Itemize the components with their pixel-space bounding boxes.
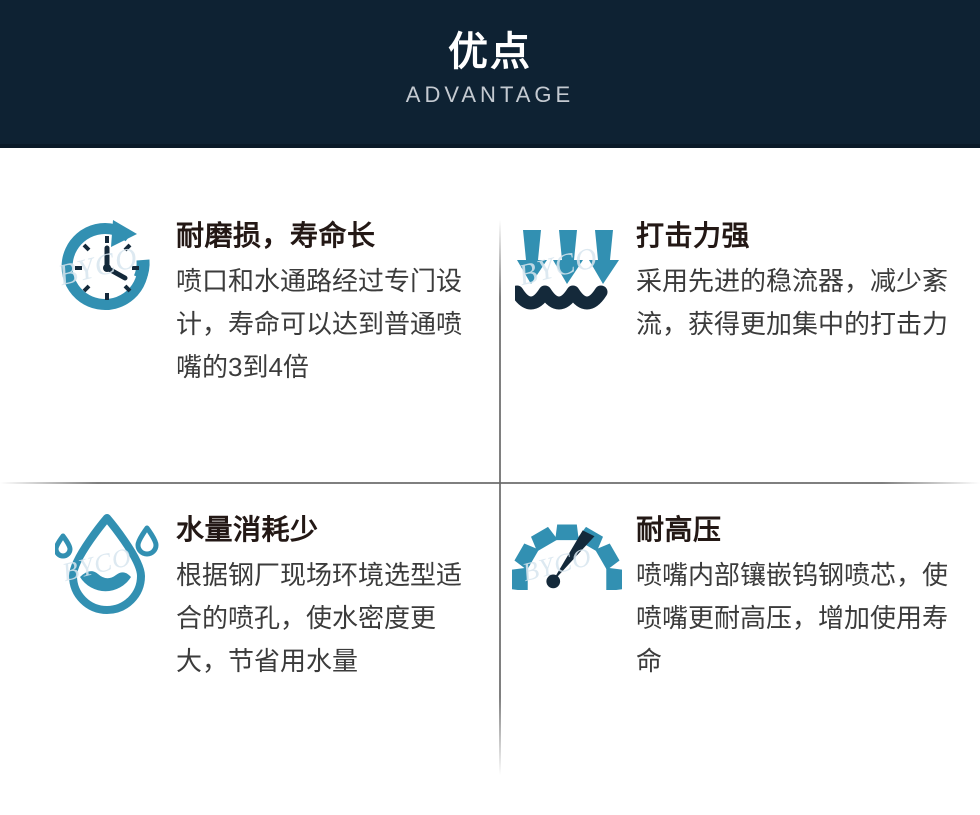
- feature-card-water-saving: BYCO 水量消耗少 根据钢厂现场环境选型适合的喷孔，使水密度更大，节省用水量: [0, 482, 490, 815]
- feature-card-durability: BYCO 耐磨损，寿命长 喷口和水通路经过专门设计，寿命可以达到普通喷嘴的3到4…: [0, 148, 490, 481]
- page-subtitle: ADVANTAGE: [406, 82, 574, 108]
- feature-card-high-pressure: BYCO 耐高压 喷嘴内部镶嵌钨钢喷芯，使喷嘴更耐高压，增加使用寿命: [490, 482, 980, 815]
- feature-text-block: 水量消耗少 根据钢厂现场环境选型适合的喷孔，使水密度更大，节省用水量: [176, 510, 470, 683]
- down-arrows-wave-icon: BYCO: [512, 216, 622, 326]
- page-title: 优点: [448, 28, 532, 76]
- feature-title: 耐高压: [636, 512, 960, 548]
- feature-text-block: 打击力强 采用先进的稳流器，减少紊流，获得更加集中的打击力: [636, 216, 960, 346]
- clock-arrow-icon: BYCO: [52, 216, 162, 326]
- page-header-banner: 优点 ADVANTAGE: [0, 0, 980, 148]
- feature-description: 喷嘴内部镶嵌钨钢喷芯，使喷嘴更耐高压，增加使用寿命: [636, 554, 960, 683]
- water-droplet-icon: BYCO: [52, 510, 162, 620]
- feature-grid: BYCO 耐磨损，寿命长 喷口和水通路经过专门设计，寿命可以达到普通喷嘴的3到4…: [0, 148, 980, 815]
- feature-title: 水量消耗少: [176, 512, 470, 548]
- feature-description: 喷口和水通路经过专门设计，寿命可以达到普通喷嘴的3到4倍: [176, 260, 470, 389]
- feature-text-block: 耐磨损，寿命长 喷口和水通路经过专门设计，寿命可以达到普通喷嘴的3到4倍: [176, 216, 470, 389]
- feature-title: 耐磨损，寿命长: [176, 218, 470, 254]
- feature-title: 打击力强: [636, 218, 960, 254]
- feature-card-impact-force: BYCO 打击力强 采用先进的稳流器，减少紊流，获得更加集中的打击力: [490, 148, 980, 481]
- feature-description: 根据钢厂现场环境选型适合的喷孔，使水密度更大，节省用水量: [176, 554, 470, 683]
- feature-description: 采用先进的稳流器，减少紊流，获得更加集中的打击力: [636, 260, 960, 346]
- pressure-gauge-icon: BYCO: [512, 510, 622, 620]
- feature-text-block: 耐高压 喷嘴内部镶嵌钨钢喷芯，使喷嘴更耐高压，增加使用寿命: [636, 510, 960, 683]
- advantage-page: 优点 ADVANTAGE: [0, 0, 980, 815]
